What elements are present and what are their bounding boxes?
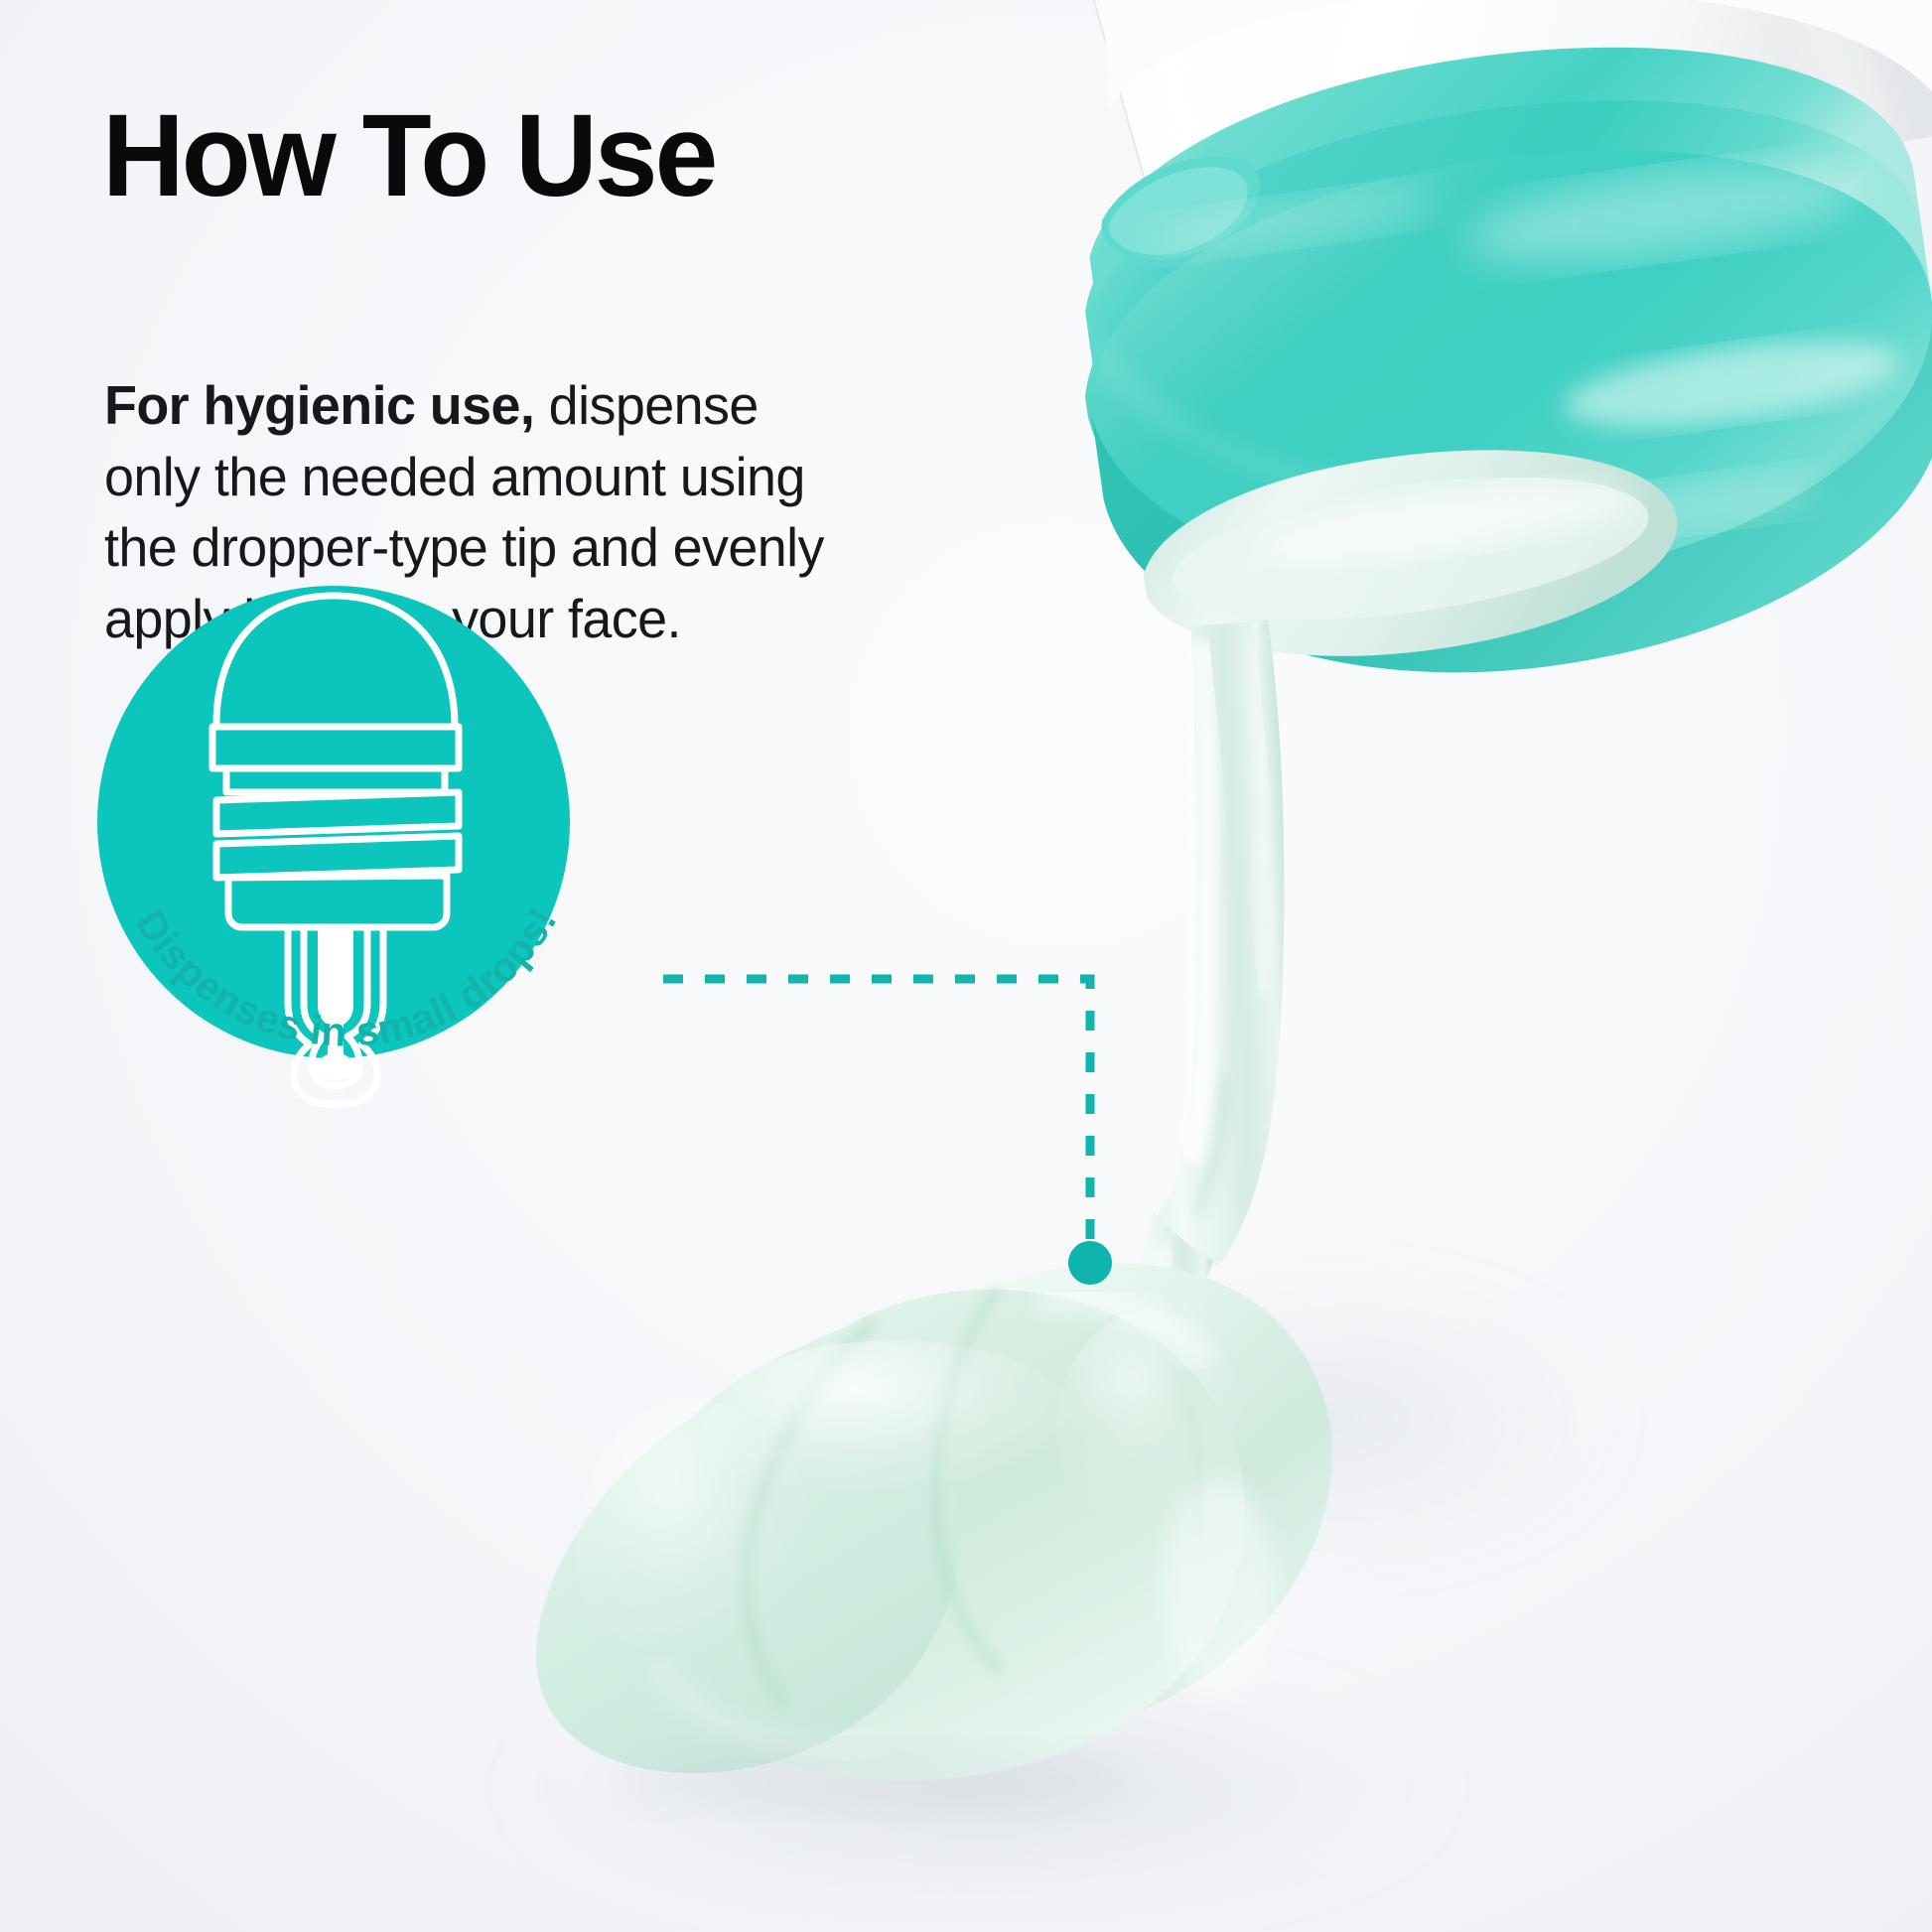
bottle-body — [1044, 0, 1932, 279]
infographic-canvas: How To Use For hygienic use, dispense on… — [0, 0, 1932, 1932]
connector-endpoint-dot — [1068, 1241, 1112, 1285]
dispense-badge: Dispenses in small drops! — [68, 556, 623, 1112]
cream-dollop — [536, 1264, 1332, 1815]
bottle-cap — [1045, 0, 1932, 725]
instruction-lead: For hygienic use, — [104, 374, 534, 436]
page-title: How To Use — [102, 97, 715, 214]
nozzle-collar — [1132, 419, 1690, 688]
connector-path — [663, 979, 1090, 1261]
connector-line — [596, 933, 1152, 1330]
